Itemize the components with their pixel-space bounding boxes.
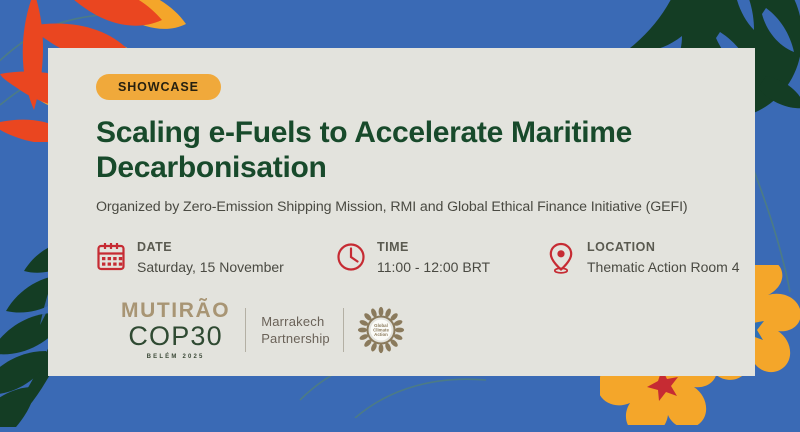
detail-value-location: Thematic Action Room 4: [587, 257, 740, 277]
marrakech-line-2: Partnership: [261, 330, 330, 347]
page-title: Scaling e-Fuels to Accelerate Maritime D…: [96, 115, 726, 185]
cop30-logo: MUTIRÃO COP30 BELÉM 2025: [121, 300, 230, 360]
calendar-icon: [96, 241, 126, 274]
detail-value-date: Saturday, 15 November: [137, 257, 284, 277]
clock-icon: [336, 241, 366, 274]
logo-divider: [245, 308, 246, 352]
logo-bar: MUTIRÃO COP30 BELÉM 2025 Marrakech Partn…: [121, 300, 405, 360]
detail-time: TIME 11:00 - 12:00 BRT: [336, 240, 546, 277]
event-card: SHOWCASE Scaling e-Fuels to Accelerate M…: [48, 48, 755, 376]
detail-value-time: 11:00 - 12:00 BRT: [377, 257, 490, 277]
cop30-mutirao-text: MUTIRÃO: [121, 300, 230, 321]
detail-date: DATE Saturday, 15 November: [96, 240, 336, 277]
detail-label-location: LOCATION: [587, 240, 740, 256]
detail-label-date: DATE: [137, 240, 284, 256]
detail-label-time: TIME: [377, 240, 490, 256]
logo-divider-2: [343, 308, 344, 352]
detail-location: LOCATION Thematic Action Room 4: [546, 240, 740, 277]
showcase-badge: SHOWCASE: [96, 74, 221, 100]
global-climate-action-emblem: Global Climate Action: [357, 306, 405, 354]
gca-line-3: Action: [374, 332, 388, 337]
cop30-belem-text: BELÉM 2025: [121, 354, 230, 360]
event-details-row: DATE Saturday, 15 November TIME 11:00 - …: [96, 240, 755, 277]
organizer-text: Organized by Zero-Emission Shipping Miss…: [96, 199, 755, 215]
marrakech-line-1: Marrakech: [261, 313, 330, 330]
cop30-main-text: COP30: [121, 322, 230, 351]
marrakech-partnership-logo: Marrakech Partnership: [261, 313, 330, 347]
location-pin-icon: [546, 241, 576, 274]
